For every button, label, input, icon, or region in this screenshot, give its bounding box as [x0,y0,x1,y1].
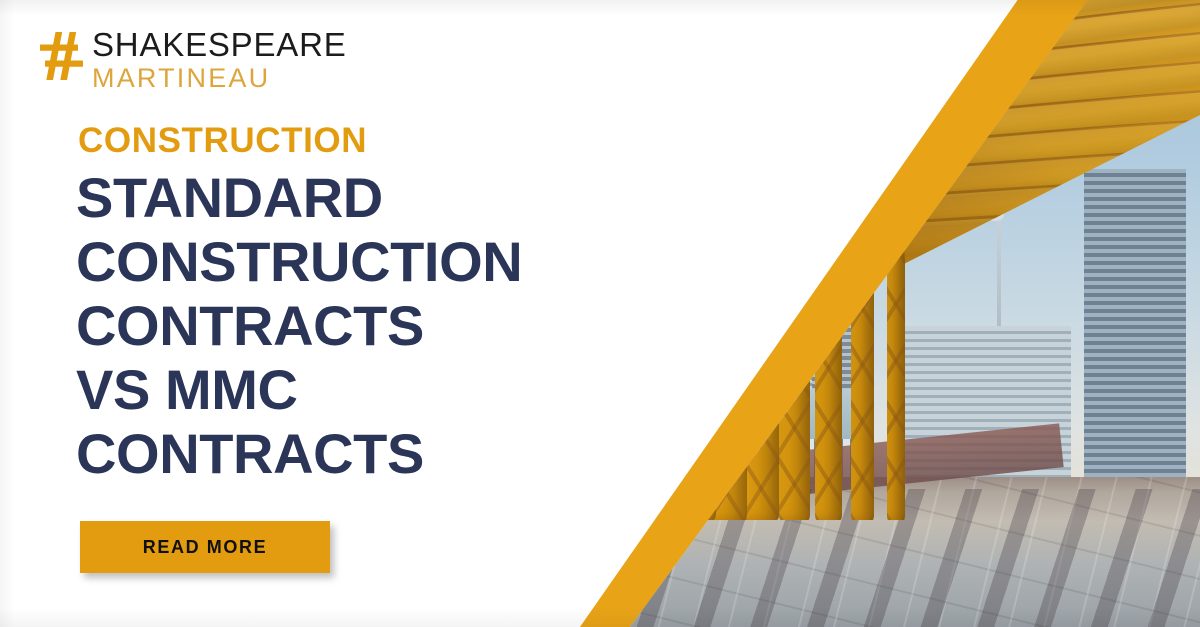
page-title-line: CONTRACTS [76,294,636,358]
content-panel: SHAKESPEARE MARTINEAU CONSTRUCTION STAND… [0,0,660,627]
page-title-line: CONSTRUCTION [76,230,636,294]
photo-colonnade-column [743,176,779,520]
hash-mark-icon [38,30,86,82]
brand-wordmark: SHAKESPEARE MARTINEAU [92,28,347,93]
brand-name-secondary: MARTINEAU [92,63,347,93]
page-title: STANDARDCONSTRUCTIONCONTRACTSVS MMCCONTR… [76,166,636,486]
promotional-banner: SHAKESPEARE MARTINEAU CONSTRUCTION STAND… [0,0,1200,627]
page-title-line: CONTRACTS [76,422,636,486]
page-title-line: VS MMC [76,358,636,422]
brand-logo[interactable]: SHAKESPEARE MARTINEAU [38,28,347,93]
category-eyebrow: CONSTRUCTION [78,121,367,161]
page-title-line: STANDARD [76,166,636,230]
brand-name-primary: SHAKESPEARE [92,28,347,62]
photo-colonnade-column [887,235,905,521]
read-more-button[interactable]: READ MORE [80,521,330,573]
photo-tower-right [1084,169,1186,483]
